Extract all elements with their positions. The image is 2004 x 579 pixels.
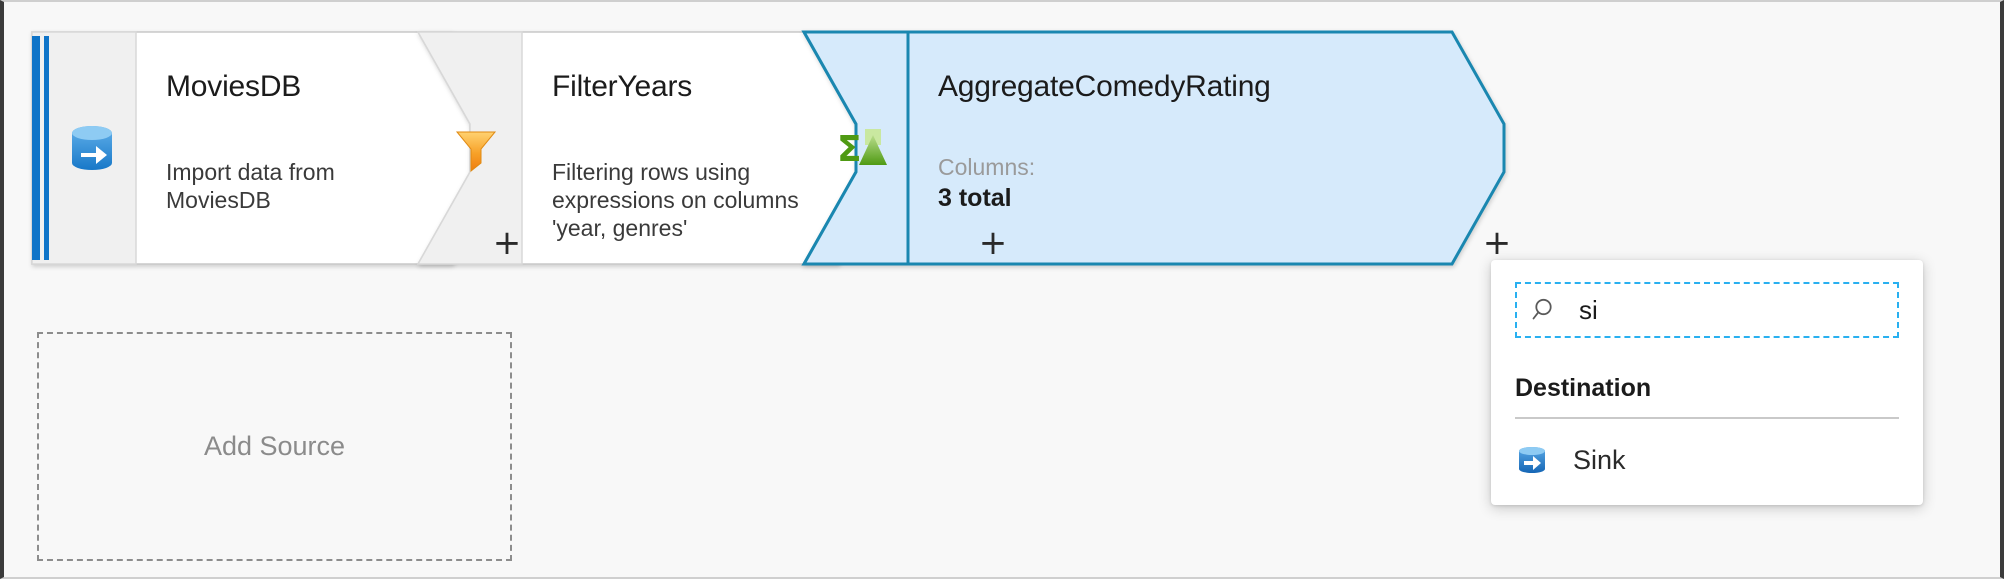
flow-canvas[interactable]: MoviesDB Import data from MoviesDB — [4, 2, 2000, 577]
search-icon — [1531, 296, 1559, 324]
add-after-aggregatecomedyrating-button[interactable]: + — [1480, 227, 1514, 261]
search-input[interactable]: si — [1515, 282, 1899, 338]
add-after-filteryears-button[interactable]: + — [976, 227, 1010, 261]
option-sink[interactable]: Sink — [1515, 437, 1899, 483]
option-sink-label: Sink — [1573, 445, 1626, 476]
destination-section-title: Destination — [1515, 374, 1899, 403]
add-destination-popup: si Destination — [1491, 260, 1923, 505]
sink-icon — [1515, 443, 1549, 477]
search-input-value: si — [1579, 295, 1598, 325]
add-after-moviesdb-button[interactable]: + — [490, 227, 524, 261]
section-divider — [1515, 417, 1899, 419]
add-source-placeholder[interactable]: Add Source — [37, 332, 512, 561]
add-source-label: Add Source — [204, 431, 345, 462]
flow-node-aggregatecomedyrating[interactable]: Σ AggregateComedyRating Columns: 3 total — [804, 32, 1504, 264]
data-flow-designer: MoviesDB Import data from MoviesDB — [0, 0, 2004, 579]
node-shape — [804, 32, 1504, 264]
